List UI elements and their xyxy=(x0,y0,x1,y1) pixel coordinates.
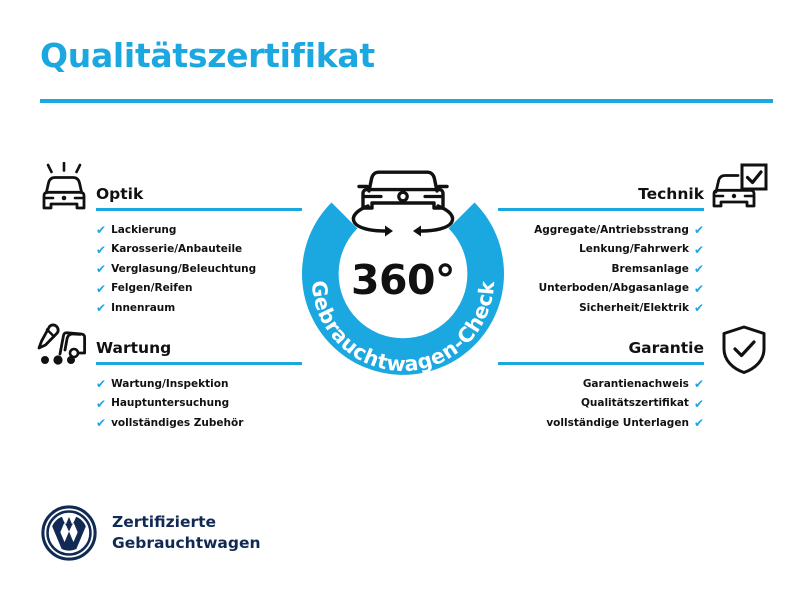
volkswagen-logo-icon xyxy=(40,504,98,562)
check-icon: ✔ xyxy=(96,224,106,236)
car-shine-icon xyxy=(36,162,92,214)
check-icon: ✔ xyxy=(694,398,704,410)
badge-360-gebrauchtwagen-check: Gebrauchtwagen-Check 360° xyxy=(288,150,518,375)
shield-check-icon xyxy=(716,324,772,376)
list-item: ✔Lackierung xyxy=(96,221,302,241)
car-checkbox-icon xyxy=(712,162,768,214)
car-wash-brush-icon xyxy=(36,322,92,374)
list-item-label: Sicherheit/Elektrik xyxy=(579,299,689,319)
section-divider-optik xyxy=(96,208,302,211)
list-item-label: Verglasung/Beleuchtung xyxy=(111,260,256,280)
list-item: ✔vollständiges Zubehör xyxy=(96,414,302,434)
section-heading-garantie: Garantie xyxy=(498,338,704,358)
section-heading-wartung: Wartung xyxy=(96,338,302,358)
list-item-label: Hauptuntersuchung xyxy=(111,394,229,414)
check-icon: ✔ xyxy=(694,224,704,236)
check-icon: ✔ xyxy=(694,302,704,314)
list-item-label: Lenkung/Fahrwerk xyxy=(579,240,689,260)
check-icon: ✔ xyxy=(96,283,106,295)
checklist-wartung: ✔Wartung/Inspektion ✔Hauptuntersuchung ✔… xyxy=(96,375,302,434)
list-item: Sicherheit/Elektrik✔ xyxy=(498,299,704,319)
list-item-label: Karosserie/Anbauteile xyxy=(111,240,242,260)
footer-logo-line1: Zertifizierte xyxy=(112,512,261,533)
list-item: ✔Innenraum xyxy=(96,299,302,319)
list-item-label: Garantienachweis xyxy=(583,375,689,395)
check-icon: ✔ xyxy=(694,283,704,295)
list-item-label: Bremsanlage xyxy=(612,260,689,280)
check-icon: ✔ xyxy=(96,263,106,275)
list-item: Garantienachweis✔ xyxy=(498,375,704,395)
footer-logo-text: Zertifizierte Gebrauchtwagen xyxy=(112,512,261,554)
list-item-label: vollständige Unterlagen xyxy=(546,414,689,434)
check-icon: ✔ xyxy=(694,263,704,275)
check-icon: ✔ xyxy=(694,378,704,390)
list-item-label: Qualitätszertifikat xyxy=(581,394,689,414)
badge-degrees-label: 360° xyxy=(288,256,518,304)
section-divider-wartung xyxy=(96,362,302,365)
page-title: Qualitätszertifikat xyxy=(40,36,375,75)
list-item: ✔Hauptuntersuchung xyxy=(96,394,302,414)
list-item-label: vollständiges Zubehör xyxy=(111,414,243,434)
section-heading-optik: Optik xyxy=(96,184,302,204)
check-icon: ✔ xyxy=(96,417,106,429)
list-item-label: Wartung/Inspektion xyxy=(111,375,228,395)
list-item: ✔Verglasung/Beleuchtung xyxy=(96,260,302,280)
list-item: Bremsanlage✔ xyxy=(498,260,704,280)
list-item: vollständige Unterlagen✔ xyxy=(498,414,704,434)
list-item: Qualitätszertifikat✔ xyxy=(498,394,704,414)
check-icon: ✔ xyxy=(96,244,106,256)
list-item: Lenkung/Fahrwerk✔ xyxy=(498,240,704,260)
list-item-label: Lackierung xyxy=(111,221,176,241)
list-item: ✔Karosserie/Anbauteile xyxy=(96,240,302,260)
checklist-garantie: Garantienachweis✔ Qualitätszertifikat✔ v… xyxy=(498,375,704,434)
check-icon: ✔ xyxy=(694,417,704,429)
footer-logo-line2: Gebrauchtwagen xyxy=(112,533,261,554)
section-heading-technik: Technik xyxy=(498,184,704,204)
check-icon: ✔ xyxy=(96,302,106,314)
check-icon: ✔ xyxy=(96,398,106,410)
list-item-label: Innenraum xyxy=(111,299,175,319)
footer-logo-block: Zertifizierte Gebrauchtwagen xyxy=(40,504,261,562)
list-item-label: Felgen/Reifen xyxy=(111,279,192,299)
section-technik: Technik Aggregate/Antriebsstrang✔ Lenkun… xyxy=(498,184,704,318)
check-icon: ✔ xyxy=(96,378,106,390)
section-wartung: Wartung ✔Wartung/Inspektion ✔Hauptunters… xyxy=(96,338,302,433)
checklist-technik: Aggregate/Antriebsstrang✔ Lenkung/Fahrwe… xyxy=(498,221,704,319)
list-item: Aggregate/Antriebsstrang✔ xyxy=(498,221,704,241)
title-divider xyxy=(40,99,773,103)
car-rotate-icon xyxy=(353,172,452,236)
list-item-label: Aggregate/Antriebsstrang xyxy=(534,221,689,241)
list-item: Unterboden/Abgasanlage✔ xyxy=(498,279,704,299)
list-item: ✔Wartung/Inspektion xyxy=(96,375,302,395)
list-item: ✔Felgen/Reifen xyxy=(96,279,302,299)
section-garantie: Garantie Garantienachweis✔ Qualitätszert… xyxy=(498,338,704,433)
section-divider-garantie xyxy=(498,362,704,365)
checklist-optik: ✔Lackierung ✔Karosserie/Anbauteile ✔Verg… xyxy=(96,221,302,319)
list-item-label: Unterboden/Abgasanlage xyxy=(539,279,689,299)
section-divider-technik xyxy=(498,208,704,211)
section-optik: Optik ✔Lackierung ✔Karosserie/Anbauteile… xyxy=(96,184,302,318)
check-icon: ✔ xyxy=(694,244,704,256)
